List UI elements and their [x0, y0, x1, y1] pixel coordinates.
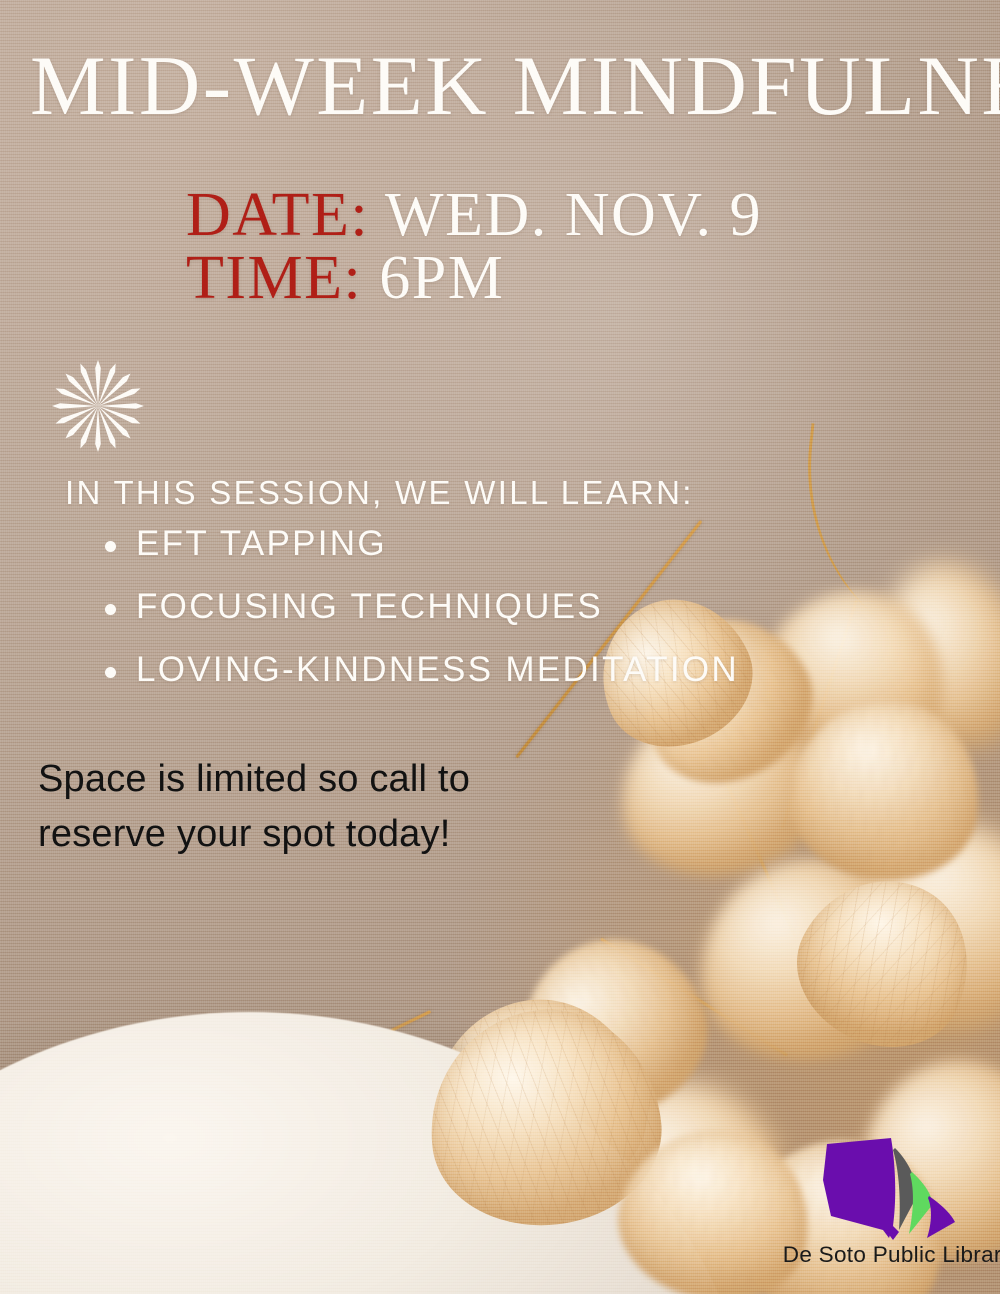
- list-item: EFT TAPPING: [96, 524, 739, 564]
- callout-line-1: Space is limited so call to: [38, 752, 470, 807]
- list-item: FOCUSING TECHNIQUES: [96, 587, 739, 627]
- library-name: De Soto Public Library: [753, 1242, 1000, 1268]
- callout-text: Space is limited so call to reserve your…: [38, 752, 470, 862]
- event-details: DATE: WED. NOV. 9 TIME: 6PM: [186, 184, 762, 310]
- callout-line-2: reserve your spot today!: [38, 807, 470, 862]
- poster-canvas: MID-WEEK MINDFULNESS DATE: WED. NOV. 9 T…: [0, 0, 1000, 1294]
- library-logo: De Soto Public Library: [795, 1134, 995, 1284]
- date-label: DATE:: [186, 181, 369, 249]
- event-time-line: TIME: 6PM: [186, 247, 762, 310]
- event-date-line: DATE: WED. NOV. 9: [186, 184, 762, 247]
- starburst-sparkle-icon: [48, 356, 148, 456]
- session-intro: IN THIS SESSION, WE WILL LEARN:: [65, 474, 694, 512]
- list-item: LOVING-KINDNESS MEDITATION: [96, 650, 739, 690]
- time-value: 6PM: [379, 244, 504, 312]
- time-label: TIME:: [186, 244, 362, 312]
- date-value: WED. NOV. 9: [385, 181, 762, 249]
- open-book-logo-icon: [813, 1134, 973, 1242]
- page-title: MID-WEEK MINDFULNESS: [30, 44, 970, 129]
- session-topics-list: EFT TAPPING FOCUSING TECHNIQUES LOVING-K…: [96, 524, 739, 713]
